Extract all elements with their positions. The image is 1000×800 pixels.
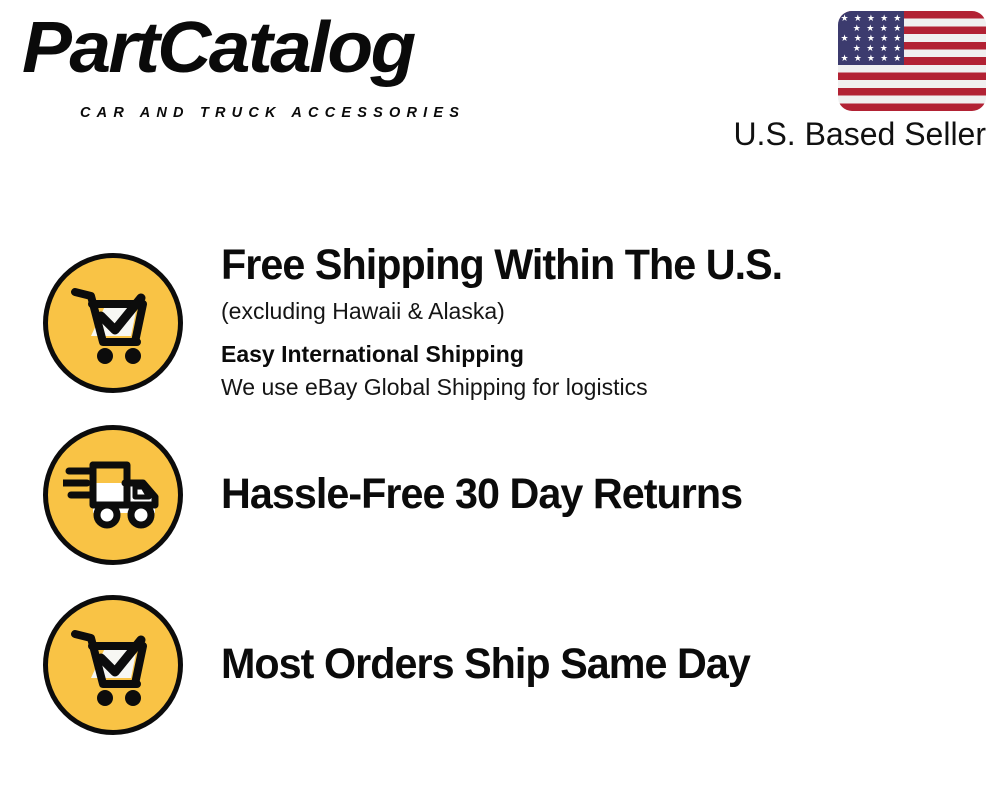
feature-title: Free Shipping Within The U.S. <box>221 243 969 289</box>
brand-logo[interactable]: PartCatalog CAR AND TRUCK ACCESSORIES <box>22 18 502 118</box>
feature-text-block: Free Shipping Within The U.S. (excluding… <box>221 243 1000 403</box>
flag-star-row: ★★★★ <box>844 44 910 53</box>
delivery-truck-icon <box>43 425 183 565</box>
list-item: Most Orders Ship Same Day <box>0 590 1000 740</box>
feature-title: Most Orders Ship Same Day <box>221 642 969 688</box>
brand-wordmark: PartCatalog <box>22 12 414 84</box>
feature-text-block: Most Orders Ship Same Day <box>221 642 1000 688</box>
flag-star-row: ★★★★★ <box>838 14 904 23</box>
list-item: Hassle-Free 30 Day Returns <box>0 420 1000 570</box>
flag-star-row: ★★★★★ <box>838 54 904 63</box>
us-flag-icon: ★★★★★ ★★★★ ★★★★★ ★★★★ ★★★★★ <box>838 11 986 111</box>
feature-subtitle: (excluding Hawaii & Alaska) <box>221 295 1000 328</box>
us-based-seller-label: U.S. Based Seller <box>733 118 986 150</box>
feature-subtitle-plain: We use eBay Global Shipping for logistic… <box>221 372 1000 403</box>
page-header: PartCatalog CAR AND TRUCK ACCESSORIES ★★… <box>0 0 1000 175</box>
flag-star-row: ★★★★ <box>844 24 910 33</box>
feature-subtitle-strong: Easy International Shipping <box>221 340 1000 370</box>
feature-title: Hassle-Free 30 Day Returns <box>221 472 969 518</box>
brand-tagline: CAR AND TRUCK ACCESSORIES <box>80 106 465 121</box>
feature-list: Free Shipping Within The U.S. (excluding… <box>0 175 1000 800</box>
shopping-cart-check-icon <box>43 253 183 393</box>
shopping-cart-check-icon <box>43 595 183 735</box>
list-item: Free Shipping Within The U.S. (excluding… <box>0 248 1000 398</box>
flag-canton: ★★★★★ ★★★★ ★★★★★ ★★★★ ★★★★★ <box>838 11 904 65</box>
feature-text-block: Hassle-Free 30 Day Returns <box>221 472 1000 518</box>
flag-star-row: ★★★★★ <box>838 34 904 43</box>
